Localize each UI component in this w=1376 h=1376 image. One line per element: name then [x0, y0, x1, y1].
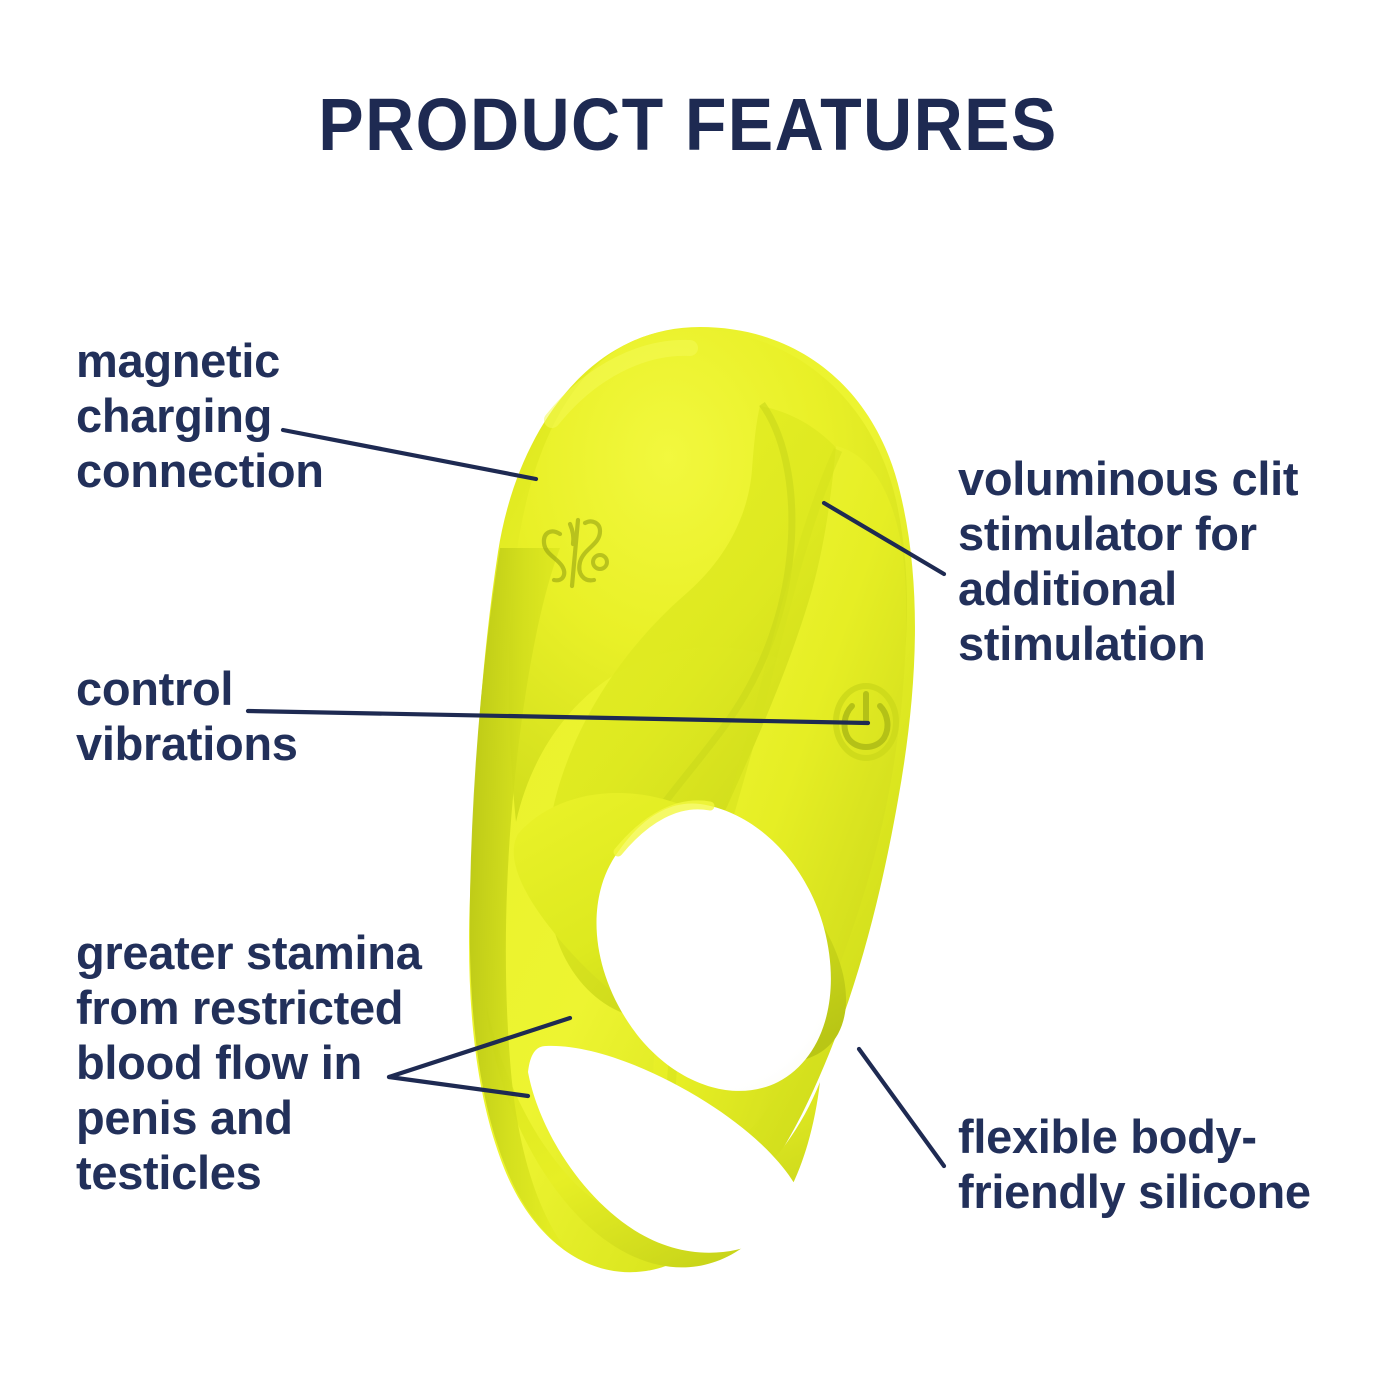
feature-label-magnetic-charging-connection: magnetic charging connection — [76, 334, 416, 499]
feature-label-greater-stamina: greater stamina from restricted blood fl… — [76, 926, 456, 1201]
feature-label-flexible-body-friendly-silicone: flexible body- friendly silicone — [958, 1110, 1338, 1220]
feature-label-voluminous-clit-stimulator: voluminous clit stimulator for additiona… — [958, 452, 1328, 672]
leader-flexible-silicone — [859, 1049, 944, 1166]
product-features-infographic: PRODUCT FEATURES — [0, 0, 1376, 1376]
product-body — [469, 327, 915, 1272]
feature-label-control-vibrations: control vibrations — [76, 662, 396, 772]
